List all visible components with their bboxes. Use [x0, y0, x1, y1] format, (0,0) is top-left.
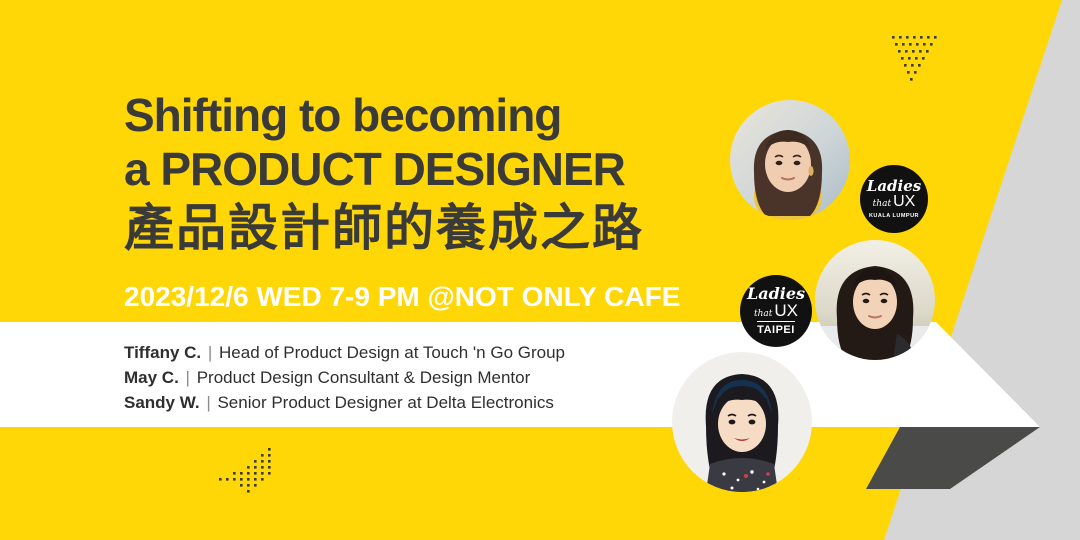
event-datetime-venue: 2023/12/6 WED 7-9 PM @NOT ONLY CAFE	[124, 281, 680, 313]
badge-script-text: Ladies	[867, 179, 921, 194]
badge-script-text: Ladies	[747, 286, 805, 302]
badge-that-text: that	[873, 200, 891, 209]
badge-ux-text: UX	[774, 302, 798, 319]
list-item: Sandy W. | Senior Product Designer at De…	[124, 390, 565, 415]
speaker-name: Sandy W.	[124, 393, 200, 412]
avatar	[730, 100, 850, 220]
badge-city-text: KUALA LUMPUR	[869, 213, 919, 219]
speaker-separator: |	[184, 368, 192, 387]
chapter-badge-kuala-lumpur: Ladies that UX KUALA LUMPUR	[860, 165, 928, 233]
speaker-name: May C.	[124, 368, 179, 387]
list-item: May C. | Product Design Consultant & Des…	[124, 365, 565, 390]
badge-city-text: TAIPEI	[757, 321, 795, 336]
halftone-triangle-top-right-icon	[892, 36, 962, 96]
headline-line-1: Shifting to becoming	[124, 88, 744, 142]
chapter-badge-taipei: Ladies that UX TAIPEI	[740, 275, 812, 347]
headline: Shifting to becoming a PRODUCT DESIGNER …	[124, 88, 744, 258]
speaker-list: Tiffany C. | Head of Product Design at T…	[124, 340, 565, 415]
list-item: Tiffany C. | Head of Product Design at T…	[124, 340, 565, 365]
avatar	[815, 240, 935, 360]
speaker-role: Senior Product Designer at Delta Electro…	[217, 393, 553, 412]
event-banner: Shifting to becoming a PRODUCT DESIGNER …	[0, 0, 1080, 540]
badge-middle-row: that UX	[873, 194, 916, 210]
headline-line-2: a PRODUCT DESIGNER	[124, 142, 744, 196]
badge-that-text: that	[754, 310, 772, 319]
speaker-separator: |	[204, 393, 212, 412]
halftone-triangle-bottom-left-icon	[212, 448, 282, 503]
headline-line-3-chinese: 產品設計師的養成之路	[124, 198, 744, 258]
speaker-role: Product Design Consultant & Design Mento…	[197, 368, 531, 387]
speaker-separator: |	[206, 343, 214, 362]
avatar	[672, 352, 812, 492]
speaker-name: Tiffany C.	[124, 343, 201, 362]
speaker-role: Head of Product Design at Touch 'n Go Gr…	[219, 343, 565, 362]
badge-middle-row: that UX	[754, 302, 798, 319]
badge-ux-text: UX	[893, 194, 915, 210]
